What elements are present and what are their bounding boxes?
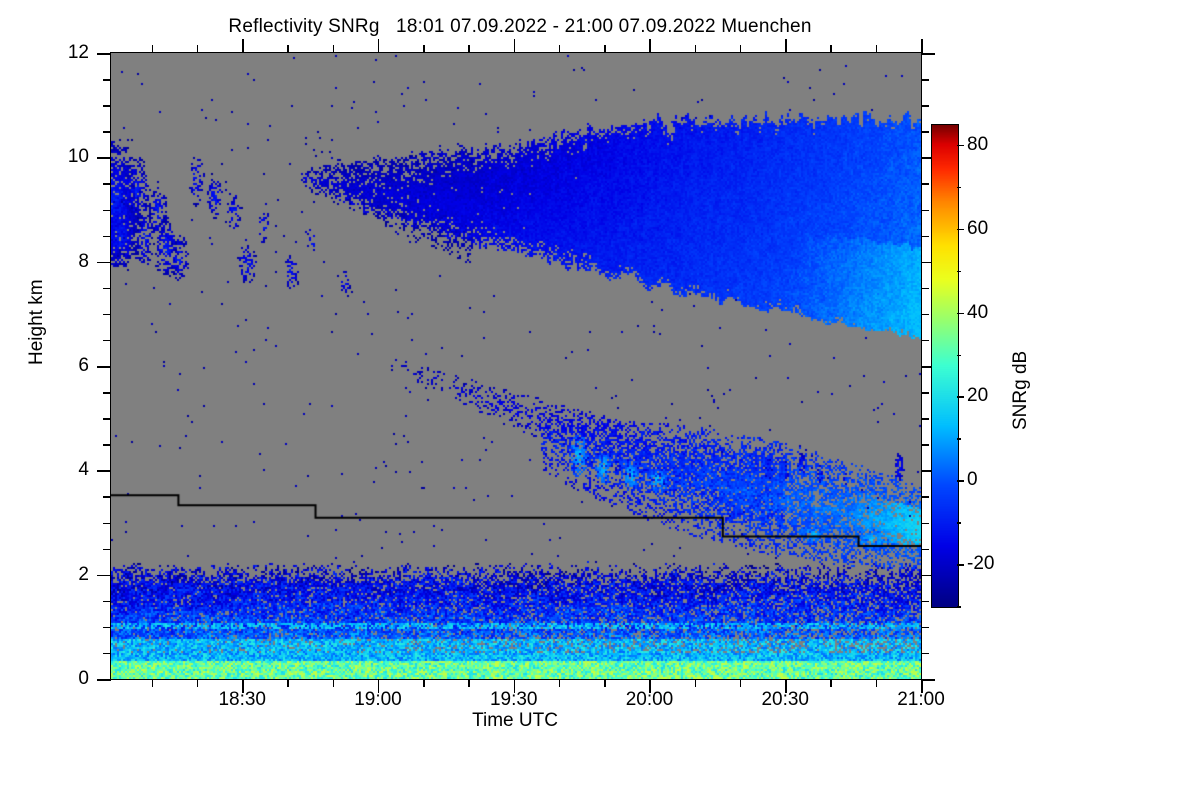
y-axis-minor-tick [103, 131, 111, 133]
y-axis-minor-tick-right [921, 183, 929, 185]
y-axis-minor-tick [103, 340, 111, 342]
x-axis-minor-tick-top [423, 45, 425, 53]
x-axis-minor-tick-top [876, 45, 878, 53]
y-axis-minor-tick [103, 314, 111, 316]
x-axis-tick-label: 20:00 [594, 689, 704, 711]
colorbar-minor-tick [957, 522, 961, 524]
x-axis-title: Time UTC [110, 710, 920, 732]
x-axis-minor-tick [197, 679, 199, 687]
y-axis-tick [97, 679, 111, 681]
colorbar-tick [957, 229, 964, 231]
y-axis-minor-tick-right [921, 418, 929, 420]
y-axis-tick [97, 470, 111, 472]
y-axis-tick [97, 157, 111, 159]
y-axis-tick [97, 53, 111, 55]
x-axis-minor-tick-top [152, 45, 154, 53]
x-axis-minor-tick-top [740, 45, 742, 53]
y-axis-minor-tick-right [921, 392, 929, 394]
y-axis-minor-tick-right [921, 288, 929, 290]
plot-area[interactable]: 02468101218:3019:0019:3020:0020:3021:00 [110, 52, 922, 680]
y-axis-minor-tick [103, 444, 111, 446]
x-axis-minor-tick [333, 679, 335, 687]
x-axis-minor-tick-top [333, 45, 335, 53]
x-axis-minor-tick-top [197, 45, 199, 53]
x-axis-tick-top [378, 39, 380, 53]
x-axis-tick-label: 19:00 [323, 689, 433, 711]
x-axis-minor-tick [559, 679, 561, 687]
x-axis-minor-tick-top [468, 45, 470, 53]
x-axis-minor-tick [830, 679, 832, 687]
x-axis-minor-tick-top [604, 45, 606, 53]
x-axis-minor-tick-top [830, 45, 832, 53]
x-axis-tick-label: 21:00 [866, 689, 976, 711]
y-axis-minor-tick-right [921, 627, 929, 629]
colorbar-tick-label: 40 [967, 302, 988, 324]
x-axis-minor-tick [468, 679, 470, 687]
y-axis-minor-tick-right [921, 79, 929, 81]
y-axis-minor-tick [103, 601, 111, 603]
x-axis-tick-top [514, 39, 516, 53]
y-axis-minor-tick-right [921, 314, 929, 316]
y-axis-tick [97, 366, 111, 368]
colorbar-tick [957, 480, 964, 482]
colorbar-tick-label: 0 [967, 469, 978, 491]
y-axis-minor-tick [103, 105, 111, 107]
reflectivity-heatmap [111, 53, 921, 679]
colorbar-tick [957, 564, 964, 566]
y-axis-minor-tick [103, 627, 111, 629]
x-axis-minor-tick [604, 679, 606, 687]
x-axis-tick-label: 18:30 [187, 689, 297, 711]
colorbar-tick-label: -20 [967, 553, 994, 575]
colorbar-minor-tick [957, 355, 961, 357]
y-axis-tick-label: 12 [25, 42, 89, 64]
y-axis-minor-tick-right [921, 131, 929, 133]
colorbar-tick-label: 20 [967, 385, 988, 407]
colorbar-title: SNRg dB [1010, 351, 1032, 430]
x-axis-minor-tick [423, 679, 425, 687]
colorbar[interactable]: -20020406080 [931, 124, 957, 606]
y-axis-tick-right [921, 679, 935, 681]
y-axis-minor-tick [103, 392, 111, 394]
y-axis-minor-tick [103, 653, 111, 655]
x-axis-minor-tick [876, 679, 878, 687]
x-axis-minor-tick [740, 679, 742, 687]
y-axis-minor-tick-right [921, 210, 929, 212]
y-axis-minor-tick-right [921, 549, 929, 551]
y-axis-minor-tick [103, 523, 111, 525]
y-axis-minor-tick-right [921, 340, 929, 342]
x-axis-minor-tick-top [287, 45, 289, 53]
x-axis-tick-top [649, 39, 651, 53]
y-axis-tick-label: 2 [25, 564, 89, 586]
x-axis-minor-tick [695, 679, 697, 687]
colorbar-tick-label: 80 [967, 134, 988, 156]
page-title: Reflectivity SNRg 18:01 07.09.2022 - 21:… [0, 16, 1040, 38]
colorbar-tick-label: 60 [967, 218, 988, 240]
y-axis-tick [97, 575, 111, 577]
y-axis-minor-tick [103, 418, 111, 420]
y-axis-tick-label: 10 [25, 146, 89, 168]
y-axis-tick-label: 0 [25, 668, 89, 690]
y-axis-tick-label: 8 [25, 251, 89, 273]
colorbar-minor-tick [957, 606, 961, 608]
colorbar-tick [957, 313, 964, 315]
x-axis-minor-tick [287, 679, 289, 687]
y-axis-minor-tick-right [921, 653, 929, 655]
y-axis-tick [97, 262, 111, 264]
y-axis-minor-tick [103, 288, 111, 290]
y-axis-minor-tick [103, 549, 111, 551]
x-axis-tick-label: 19:30 [459, 689, 569, 711]
x-axis-tick-top [785, 39, 787, 53]
y-axis-minor-tick [103, 496, 111, 498]
x-axis-tick-label: 20:30 [730, 689, 840, 711]
y-axis-minor-tick [103, 236, 111, 238]
x-axis-minor-tick [152, 679, 154, 687]
y-axis-minor-tick-right [921, 444, 929, 446]
y-axis-minor-tick [103, 79, 111, 81]
x-axis-minor-tick-top [559, 45, 561, 53]
y-axis-tick-label: 4 [25, 459, 89, 481]
y-axis-title: Height km [26, 279, 48, 365]
colorbar-tick [957, 145, 964, 147]
y-axis-minor-tick-right [921, 601, 929, 603]
y-axis-minor-tick-right [921, 105, 929, 107]
y-axis-minor-tick-right [921, 523, 929, 525]
x-axis-tick-top [242, 39, 244, 53]
colorbar-minor-tick [957, 187, 961, 189]
colorbar-tick [957, 396, 964, 398]
y-axis-minor-tick [103, 210, 111, 212]
colorbar-minor-tick [957, 438, 961, 440]
radar-figure: Reflectivity SNRg 18:01 07.09.2022 - 21:… [0, 0, 1200, 800]
y-axis-tick-right [921, 53, 935, 55]
colorbar-gradient [931, 124, 959, 608]
x-axis-tick-top [921, 39, 923, 53]
y-axis-minor-tick [103, 183, 111, 185]
y-axis-minor-tick-right [921, 496, 929, 498]
y-axis-minor-tick-right [921, 236, 929, 238]
x-axis-minor-tick-top [695, 45, 697, 53]
colorbar-minor-tick [957, 271, 961, 273]
